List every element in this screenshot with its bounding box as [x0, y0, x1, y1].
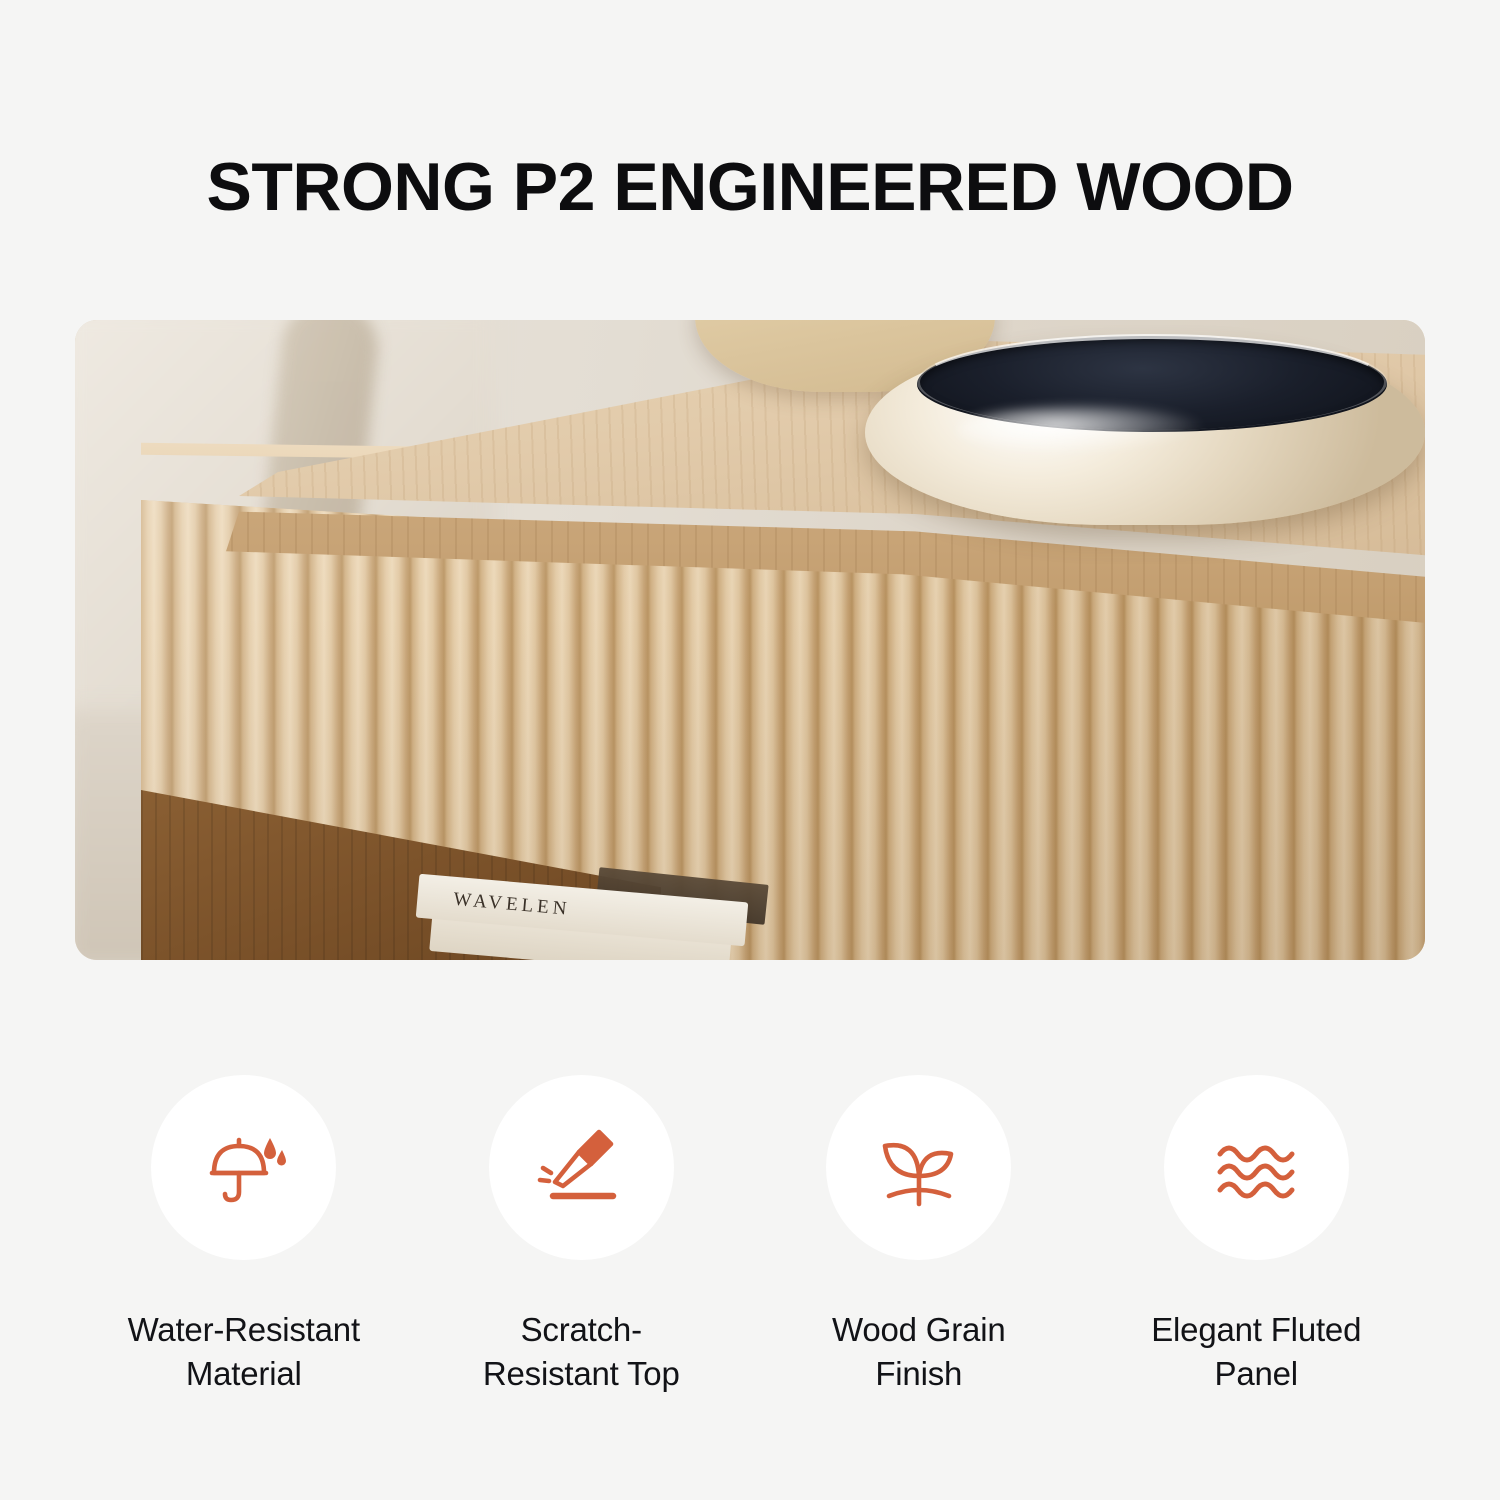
knife-scratch-surface-icon: [533, 1120, 629, 1216]
feature-scratch-resistant: Scratch- Resistant Top: [413, 1075, 751, 1395]
feature-label: Scratch- Resistant Top: [483, 1308, 680, 1395]
feature-icon-badge: [826, 1075, 1011, 1260]
book-spine-title: WAVELEN: [452, 889, 571, 921]
feature-wood-grain: Wood Grain Finish: [750, 1075, 1088, 1395]
feature-icon-badge: [1164, 1075, 1349, 1260]
feature-list: Water-Resistant Material Scratch- Resist…: [75, 1075, 1425, 1395]
feature-fluted-panel: Elegant Fluted Panel: [1088, 1075, 1426, 1395]
umbrella-raindrops-icon: [196, 1120, 292, 1216]
feature-label: Elegant Fluted Panel: [1151, 1308, 1361, 1395]
feature-icon-badge: [151, 1075, 336, 1260]
wavy-lines-fluted-icon: [1208, 1120, 1304, 1216]
ceramic-bowl: [865, 340, 1425, 525]
hero-product-photo: WAVELEN: [75, 320, 1425, 960]
feature-water-resistant: Water-Resistant Material: [75, 1075, 413, 1395]
bowl-gloss-highlight: [957, 406, 1207, 454]
feature-label: Water-Resistant Material: [128, 1308, 360, 1395]
feature-icon-badge: [489, 1075, 674, 1260]
sprout-seedling-icon: [871, 1120, 967, 1216]
feature-label: Wood Grain Finish: [832, 1308, 1005, 1395]
page-title: STRONG P2 ENGINEERED WOOD: [0, 152, 1500, 223]
